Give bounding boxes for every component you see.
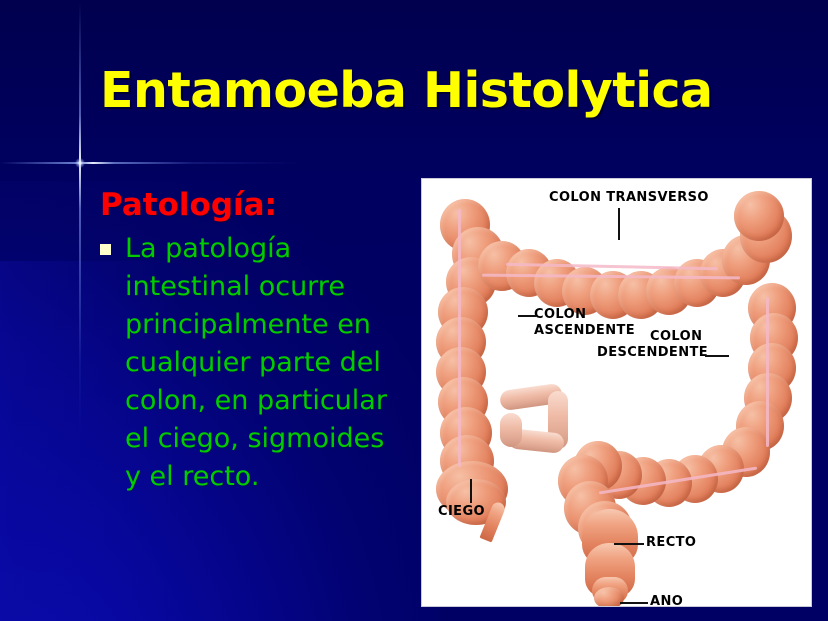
- sparkle-horizontal-ray: [0, 162, 300, 164]
- anatomy-figure: COLON TRANSVERSO COLON ASCENDENTE COLON …: [422, 179, 811, 606]
- leader-line-ciego: [470, 479, 472, 503]
- figure-label-colon-transverso: COLON TRANSVERSO: [549, 190, 709, 205]
- figure-label-colon-descendente-line2: DESCENDENTE: [597, 345, 708, 360]
- figure-label-recto: RECTO: [646, 535, 696, 550]
- figure-label-ano: ANO: [650, 594, 683, 606]
- sparkle-core: [75, 158, 85, 168]
- figure-label-colon-ascendente-line1: COLON: [534, 307, 586, 322]
- presentation-slide: Entamoeba Histolytica Patología: La pato…: [0, 0, 828, 621]
- slide-body-column: Patología: La patología intestinal ocurr…: [100, 186, 400, 496]
- bullet-item-text: La patología intestinal ocurre principal…: [125, 230, 400, 496]
- bullet-list-item: La patología intestinal ocurre principal…: [100, 230, 400, 496]
- anatomy-figure-canvas: COLON TRANSVERSO COLON ASCENDENTE COLON …: [422, 179, 811, 606]
- leader-line-colon-transverso: [618, 208, 620, 240]
- leader-line-colon-ascendente: [518, 315, 536, 317]
- leader-line-ano: [620, 602, 648, 604]
- sparkle-vertical-ray: [79, 3, 81, 433]
- section-heading-patologia: Patología:: [100, 186, 400, 224]
- figure-label-colon-ascendente-line2: ASCENDENTE: [534, 323, 635, 338]
- figure-label-ciego: CIEGO: [438, 504, 485, 519]
- leader-line-colon-descendente: [705, 355, 729, 357]
- figure-label-colon-descendente-line1: COLON: [650, 329, 702, 344]
- leader-line-recto: [614, 543, 644, 545]
- square-bullet-icon: [100, 244, 111, 255]
- slide-title: Entamoeba Histolytica: [100, 62, 713, 119]
